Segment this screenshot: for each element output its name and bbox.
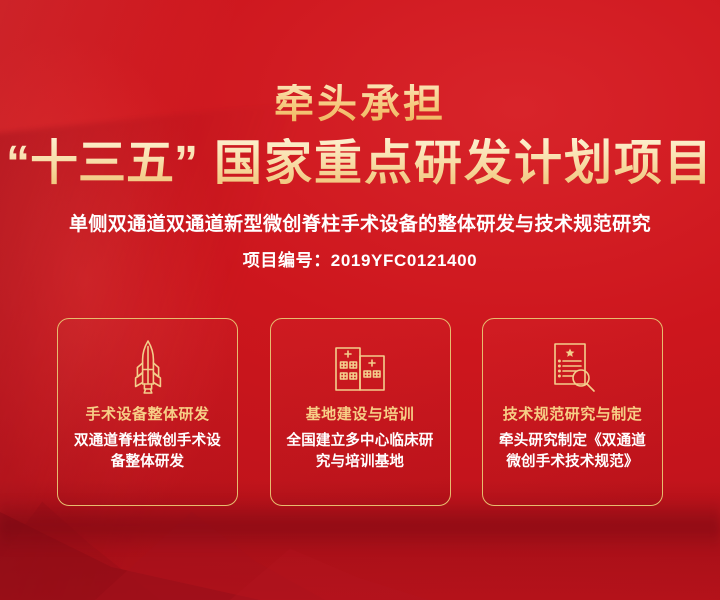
card-description: 双通道脊柱微创手术设备整体研发 bbox=[68, 431, 228, 472]
poster-title-main-rest: 国家重点研发计划项目 bbox=[214, 137, 714, 190]
card-description: 牵头研究制定《双通道微创手术技术规范》 bbox=[493, 431, 653, 472]
highlight-card: 手术设备整体研发 双通道脊柱微创手术设备整体研发 bbox=[57, 318, 238, 506]
rocket-icon bbox=[128, 339, 168, 395]
page-title: “十三五”国家重点研发计划项目 bbox=[0, 138, 720, 190]
highlight-card: 技术规范研究与制定 牵头研究制定《双通道微创手术技术规范》 bbox=[482, 318, 663, 506]
hospital-building-icon bbox=[332, 339, 388, 395]
document-magnifier-icon bbox=[547, 339, 599, 395]
card-title: 基地建设与培训 bbox=[306, 403, 415, 424]
card-title: 手术设备整体研发 bbox=[85, 403, 209, 424]
project-number: 项目编号：2019YFC0121400 bbox=[0, 246, 720, 271]
poster-subtitle: 单侧双通道双通道新型微创脊柱手术设备的整体研发与技术规范研究 bbox=[0, 209, 720, 236]
poster-banner: 牵头承担 “十三五”国家重点研发计划项目 单侧双通道双通道新型微创脊柱手术设备的… bbox=[0, 0, 720, 600]
poster-title-quoted-term: “十三五” bbox=[6, 137, 198, 190]
highlight-card: 基地建设与培训 全国建立多中心临床研究与培训基地 bbox=[270, 318, 451, 506]
highlight-card-list: 手术设备整体研发 双通道脊柱微创手术设备整体研发 bbox=[57, 318, 663, 506]
card-description: 全国建立多中心临床研究与培训基地 bbox=[280, 431, 440, 472]
card-title: 技术规范研究与制定 bbox=[503, 403, 643, 424]
poster-title-lead: 牵头承担 bbox=[0, 84, 720, 124]
